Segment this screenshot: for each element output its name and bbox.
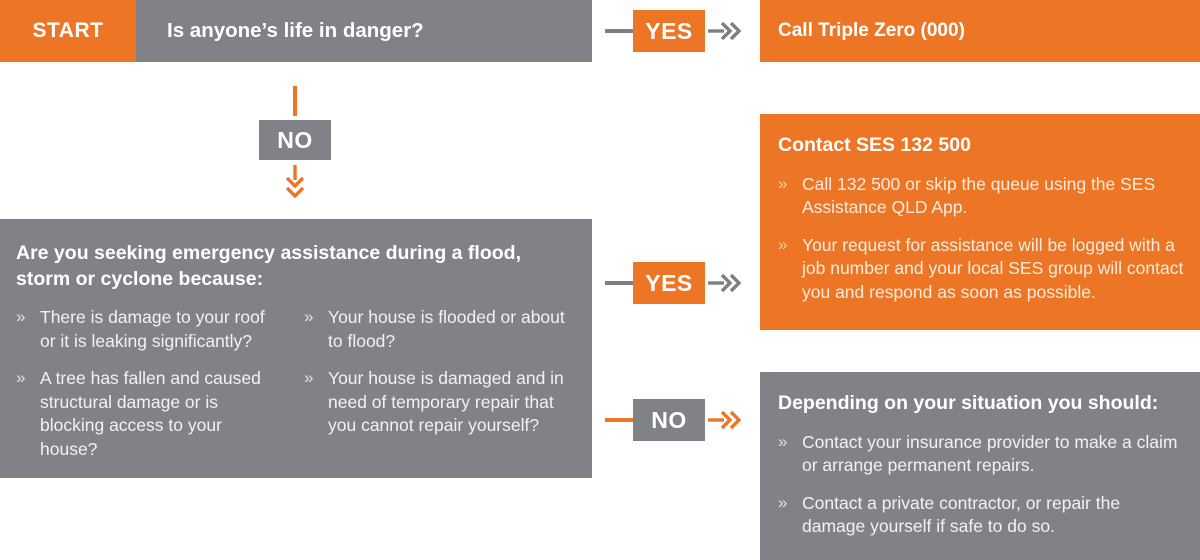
question-emergency-assistance-heading: Are you seeking emergency assistance dur… xyxy=(16,241,556,292)
bullet-list: » Contact your insurance provider to mak… xyxy=(778,431,1186,539)
connector-label-yes: YES xyxy=(633,262,705,304)
list-item: » Your house is damaged and in need of t… xyxy=(304,367,572,437)
bullet-marker-icon: » xyxy=(16,367,40,461)
connector-label-no-text: NO xyxy=(277,129,313,152)
list-item-text: Your house is damaged and in need of tem… xyxy=(328,367,572,437)
outcome-depending-on-situation-title: Depending on your situation you should: xyxy=(778,392,1186,415)
list-item: » Your house is flooded or about to floo… xyxy=(304,306,572,353)
list-item: » Call 132 500 or skip the queue using t… xyxy=(778,173,1186,220)
question-box-emergency-assistance: Are you seeking emergency assistance dur… xyxy=(0,219,592,478)
connector-label-yes-text: YES xyxy=(645,272,693,295)
connector-label-no: NO xyxy=(633,399,705,441)
connector-no-bottom: NO xyxy=(605,398,741,442)
list-item: » A tree has fallen and caused structura… xyxy=(16,367,284,461)
list-item-text: Your house is flooded or about to flood? xyxy=(328,306,572,353)
connector-label-no: NO xyxy=(259,120,331,160)
bullet-list: » Your house is flooded or about to floo… xyxy=(304,306,572,437)
list-item-text: Your request for assistance will be logg… xyxy=(802,234,1186,304)
outcome-box-depending-on-situation: Depending on your situation you should: … xyxy=(760,372,1200,560)
outcome-call-triple-zero-title: Call Triple Zero (000) xyxy=(778,20,965,42)
list-item: » Contact a private contractor, or repai… xyxy=(778,492,1186,539)
connector-line xyxy=(605,281,633,285)
list-item-text: A tree has fallen and caused structural … xyxy=(40,367,284,461)
double-chevron-right-arrow-icon xyxy=(707,268,741,298)
connector-label-yes: YES xyxy=(633,10,705,52)
bullet-list: » Call 132 500 or skip the queue using t… xyxy=(778,173,1186,304)
bullet-column-left: » There is damage to your roof or it is … xyxy=(16,306,284,461)
bullet-marker-icon: » xyxy=(304,306,328,353)
connector-label-yes-text: YES xyxy=(645,20,693,43)
connector-line xyxy=(605,418,633,422)
bullet-marker-icon: » xyxy=(16,306,40,353)
question-bullet-columns: » There is damage to your roof or it is … xyxy=(16,306,572,461)
list-item-text: Call 132 500 or skip the queue using the… xyxy=(802,173,1186,220)
bullet-list: » There is damage to your roof or it is … xyxy=(16,306,284,461)
bullet-marker-icon: » xyxy=(778,492,802,539)
bullet-column-right: » Your house is flooded or about to floo… xyxy=(304,306,572,461)
connector-label-no-text: NO xyxy=(651,409,687,432)
bullet-marker-icon: » xyxy=(778,431,802,478)
question-life-in-danger-label: Is anyone’s life in danger? xyxy=(167,19,424,43)
start-label: START xyxy=(33,19,104,43)
list-item-text: Contact your insurance provider to make … xyxy=(802,431,1186,478)
connector-line xyxy=(293,86,297,116)
connector-line xyxy=(605,29,633,33)
list-item: » There is damage to your roof or it is … xyxy=(16,306,284,353)
outcome-contact-ses-title: Contact SES 132 500 xyxy=(778,134,1186,157)
question-box-life-in-danger: Is anyone’s life in danger? xyxy=(136,0,592,62)
connector-yes-top: YES xyxy=(605,9,741,53)
bullet-marker-icon: » xyxy=(778,173,802,220)
flowchart-canvas: START Is anyone’s life in danger? YES Ca… xyxy=(0,0,1200,560)
double-chevron-down-arrow-icon xyxy=(280,164,310,200)
connector-yes-middle: YES xyxy=(605,261,741,305)
connector-no-vertical: NO xyxy=(262,86,328,200)
outcome-box-call-triple-zero: Call Triple Zero (000) xyxy=(760,0,1200,62)
outcome-box-contact-ses: Contact SES 132 500 » Call 132 500 or sk… xyxy=(760,114,1200,330)
double-chevron-right-arrow-icon xyxy=(707,16,741,46)
list-item-text: Contact a private contractor, or repair … xyxy=(802,492,1186,539)
bullet-marker-icon: » xyxy=(304,367,328,437)
list-item-text: There is damage to your roof or it is le… xyxy=(40,306,284,353)
start-badge: START xyxy=(0,0,136,62)
list-item: » Contact your insurance provider to mak… xyxy=(778,431,1186,478)
double-chevron-right-arrow-icon xyxy=(707,405,741,435)
list-item: » Your request for assistance will be lo… xyxy=(778,234,1186,304)
bullet-marker-icon: » xyxy=(778,234,802,304)
